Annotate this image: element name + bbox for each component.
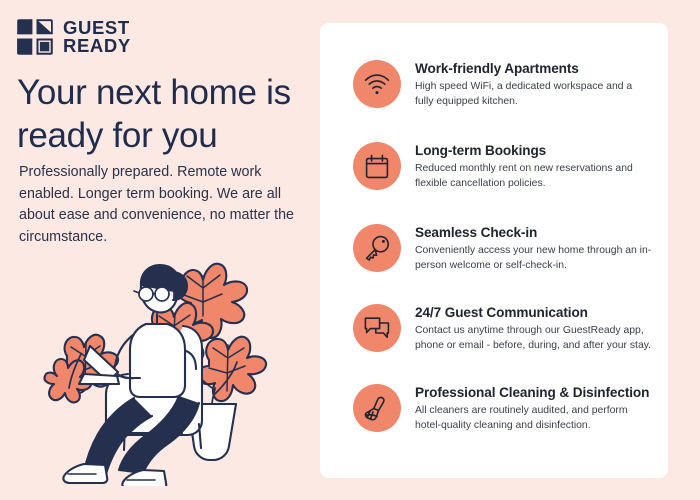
feature-item-seamless-check-in[interactable]: Seamless Check-in Conveniently access yo… — [353, 224, 653, 274]
guestready-logo-mark-icon — [16, 18, 54, 56]
feature-description: High speed WiFi, a dedicated workspace a… — [415, 80, 653, 110]
feature-text: Work-friendly Apartments High speed WiFi… — [415, 60, 653, 110]
feature-description: Reduced monthly rent on new reservations… — [415, 162, 653, 192]
wifi-icon-badge — [353, 60, 401, 108]
feature-title: 24/7 Guest Communication — [415, 305, 653, 321]
feature-item-work-friendly-apartments[interactable]: Work-friendly Apartments High speed WiFi… — [353, 60, 653, 110]
promo-page: GUEST READY Your next home is ready for … — [0, 0, 700, 500]
calendar-icon — [365, 154, 389, 179]
features-panel: Work-friendly Apartments High speed WiFi… — [320, 23, 668, 478]
chat-bubbles-icon — [364, 316, 390, 340]
feature-text: Long-term Bookings Reduced monthly rent … — [415, 142, 653, 192]
feature-description: Contact us anytime through our GuestRead… — [415, 324, 653, 354]
broom-icon-badge — [353, 384, 401, 432]
hero-heading: Your next home is ready for you — [17, 72, 307, 157]
feature-title: Seamless Check-in — [415, 225, 653, 241]
feature-text: Professional Cleaning & Disinfection All… — [415, 384, 653, 434]
brand-logo[interactable]: GUEST READY — [16, 18, 131, 56]
chat-bubbles-icon-badge — [353, 304, 401, 352]
calendar-icon-badge — [353, 142, 401, 190]
broom-icon — [364, 396, 390, 421]
feature-text: 24/7 Guest Communication Contact us anyt… — [415, 304, 653, 354]
wifi-icon — [364, 74, 390, 95]
feature-text: Seamless Check-in Conveniently access yo… — [415, 224, 653, 274]
hero-illustration-woman-with-laptop — [33, 228, 305, 486]
key-icon — [364, 235, 390, 261]
feature-description: All cleaners are routinely audited, and … — [415, 404, 653, 434]
feature-title: Long-term Bookings — [415, 143, 653, 159]
feature-item-guest-communication[interactable]: 24/7 Guest Communication Contact us anyt… — [353, 304, 653, 354]
key-icon-badge — [353, 224, 401, 272]
left-column: GUEST READY Your next home is ready for … — [0, 0, 320, 500]
brand-name-line2: READY — [63, 37, 131, 55]
feature-description: Conveniently access your new home throug… — [415, 244, 653, 274]
brand-wordmark: GUEST READY — [63, 19, 131, 55]
feature-item-professional-cleaning[interactable]: Professional Cleaning & Disinfection All… — [353, 384, 653, 434]
feature-item-long-term-bookings[interactable]: Long-term Bookings Reduced monthly rent … — [353, 142, 653, 192]
feature-title: Work-friendly Apartments — [415, 61, 653, 77]
feature-title: Professional Cleaning & Disinfection — [415, 385, 653, 401]
